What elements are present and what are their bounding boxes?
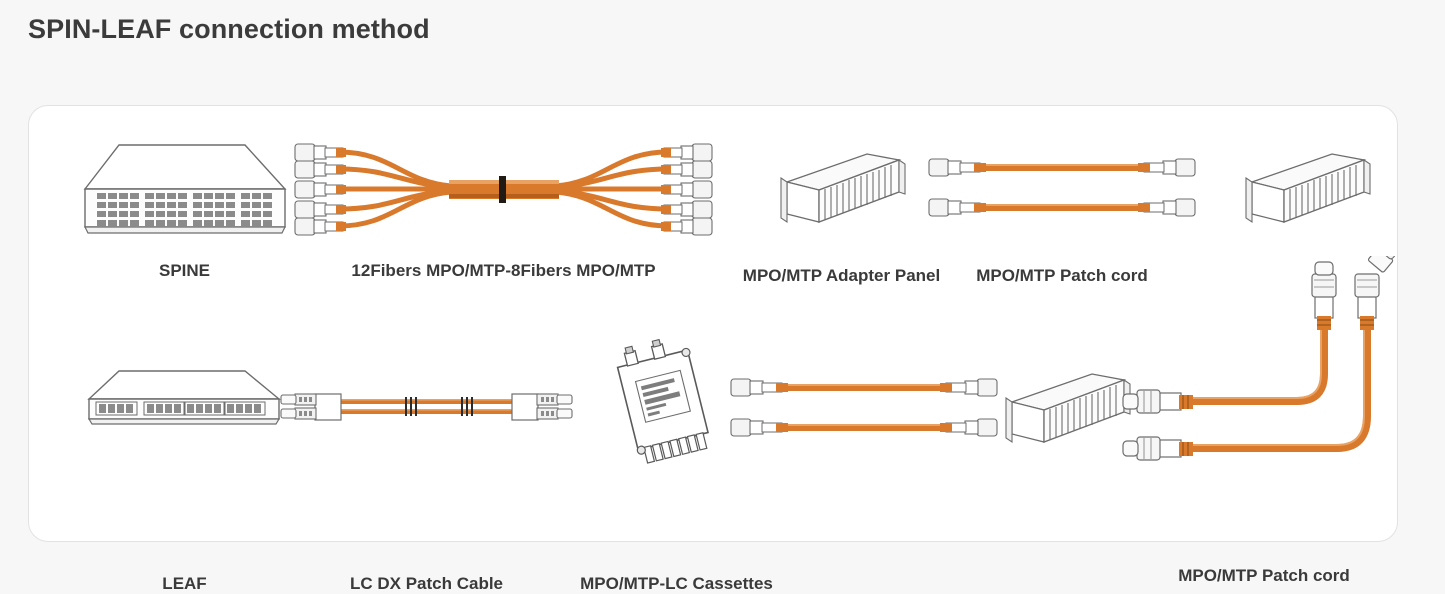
spine-switch-label: SPINE	[159, 261, 210, 281]
trunk-cable-label: 12Fibers MPO/MTP-8Fibers MPO/MTP	[351, 261, 655, 281]
adapter-panel-icon	[984, 364, 1134, 464]
lc-duplex-cable-icon	[279, 361, 574, 451]
mpo-connector-horizontal-2	[1123, 437, 1193, 460]
mpo-connector-vertical-1	[1312, 262, 1336, 330]
mpo-connector-horizontal-1	[1123, 390, 1193, 413]
adapter-panel-icon	[759, 144, 909, 244]
angled-patch-cord-label: MPO/MTP Patch cord	[1178, 566, 1350, 586]
lc-connector-left	[281, 394, 341, 420]
leaf-switch-label: LEAF	[162, 574, 206, 594]
mpo-connector-left-group	[295, 144, 346, 235]
adapter-panel-right	[1224, 144, 1384, 254]
lc-dx-cable: LC DX Patch Cable	[279, 361, 574, 511]
flat-switch-icon	[77, 361, 292, 451]
fiber-trunk-cable-icon	[291, 134, 716, 244]
spine-switch: SPINE	[77, 141, 292, 291]
trunk-cable: 12Fibers MPO/MTP-8Fibers MPO/MTP	[291, 134, 716, 294]
leaf-switch: LEAF	[77, 361, 292, 511]
diagram-card: SPINE	[28, 105, 1398, 542]
patch-cord-pair-icon	[729, 364, 999, 464]
mpo-connector-vertical-2	[1355, 256, 1400, 330]
angled-patch-cord-icon	[1119, 256, 1409, 486]
cassette-label: MPO/MTP-LC Cassettes	[580, 574, 773, 594]
patch-cord-bottom	[729, 364, 999, 474]
mpo-connector-right-group	[661, 144, 712, 235]
adapter-panel-icon	[1224, 144, 1374, 244]
rack-switch-icon	[77, 141, 292, 251]
patch-cord-pair-icon	[927, 144, 1197, 244]
adapter-panel-top-label: MPO/MTP Adapter Panel	[743, 266, 940, 286]
page-title: SPIN-LEAF connection method	[28, 14, 430, 45]
angled-patch-cord: MPO/MTP Patch cord	[1119, 256, 1409, 516]
lc-dx-cable-label: LC DX Patch Cable	[350, 574, 503, 594]
